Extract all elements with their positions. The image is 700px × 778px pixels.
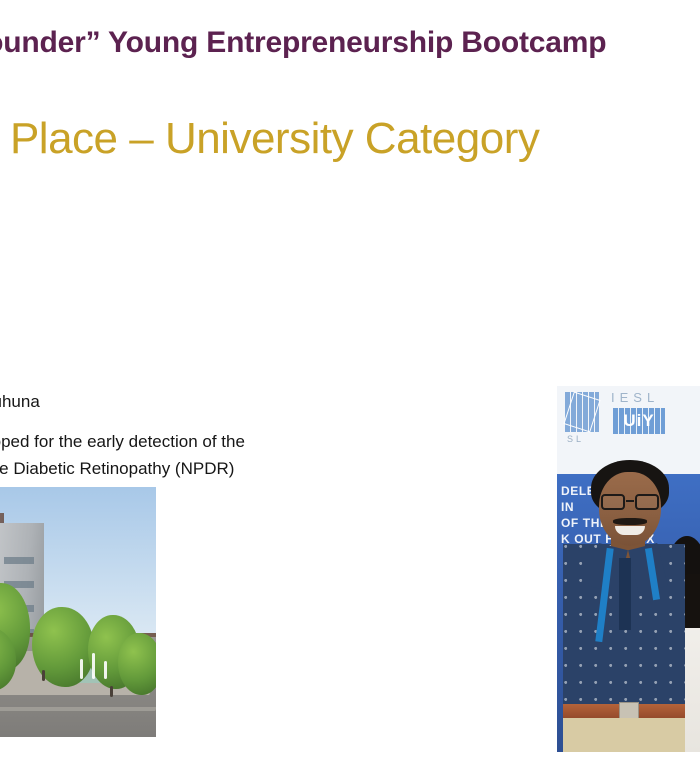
banner-line-2: IN [561,500,574,514]
page-title: “Future Founder” Young Entrepreneurship … [0,22,700,64]
fountain-jet [92,653,95,679]
kerb-line [0,707,156,711]
uiy-logo-icon: UiY [613,408,665,434]
university-name: University of Ruhuna [0,388,402,415]
pedestrian [110,686,113,697]
project-description: University of Ruhuna A device developed … [0,388,402,482]
fountain-jet [80,659,83,679]
fountain-jet [104,661,107,679]
iesl-emblem-icon [565,392,599,432]
lens-left [601,494,625,510]
person-moustache [613,518,647,525]
campus-photo [0,487,156,737]
uiy-logo-text: UiY [613,411,665,430]
project-line-1: A device developed for the early detecti… [0,428,402,455]
trousers [563,718,685,752]
lens-right [635,494,659,510]
award-subtitle: Second Place – University Category [0,108,700,170]
pedestrian [42,670,45,681]
backdrop-brand-text: IESL [611,390,659,405]
award-photo: IESL UiY SL DELEGATE IN OF THE YEAR K OU… [557,386,700,752]
person-smile [615,526,645,535]
backdrop-sub-text: SL [567,434,584,444]
window [4,557,34,564]
project-line-2: Non-Proliferative Diabetic Retinopathy (… [0,455,402,482]
glasses-bridge [626,500,634,502]
eyeglasses-icon [599,494,661,510]
shirt-placket [619,558,631,630]
